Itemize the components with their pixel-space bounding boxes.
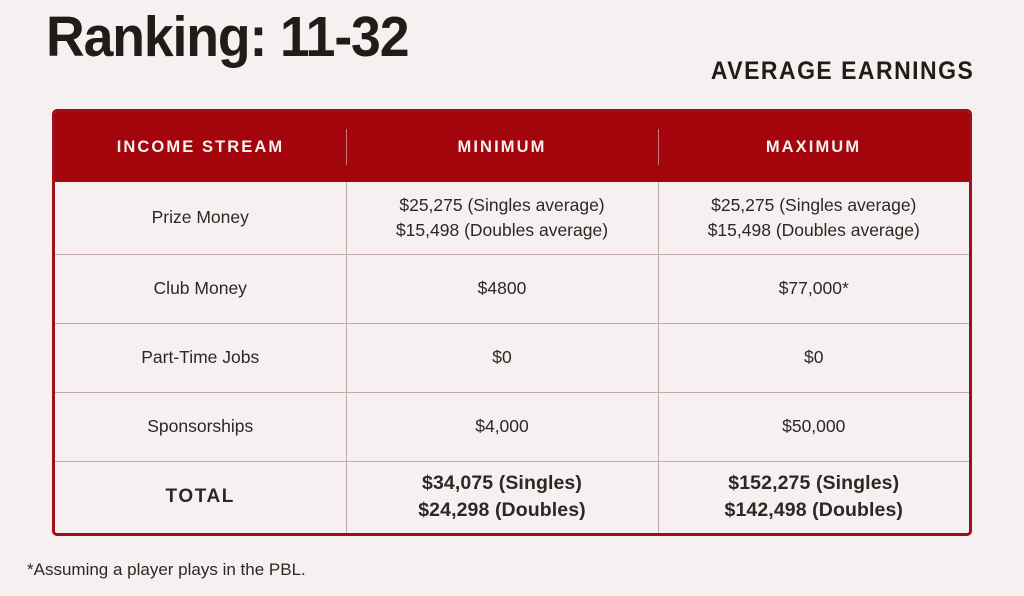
cell-line: $24,298 (Doubles): [357, 497, 648, 525]
cell-minimum: $4,000: [346, 392, 658, 461]
column-header-maximum: MAXIMUM: [658, 112, 969, 182]
table-row: Prize Money $25,275 (Singles average) $1…: [55, 182, 969, 254]
cell-minimum: $4800: [346, 254, 658, 323]
cell-income-stream: Part-Time Jobs: [55, 323, 346, 392]
cell-line: $77,000*: [669, 276, 960, 301]
cell-minimum: $34,075 (Singles) $24,298 (Doubles): [346, 461, 658, 533]
cell-line: $15,498 (Doubles average): [669, 218, 960, 243]
earnings-infographic: Ranking: 11-32 AVERAGE EARNINGS INCOME S…: [0, 0, 1024, 596]
cell-maximum: $77,000*: [658, 254, 969, 323]
cell-line: $25,275 (Singles average): [669, 193, 960, 218]
cell-minimum: $25,275 (Singles average) $15,498 (Doubl…: [346, 182, 658, 254]
table-row: Sponsorships $4,000 $50,000: [55, 392, 969, 461]
cell-line: $0: [669, 345, 960, 370]
column-header-income-stream: INCOME STREAM: [55, 112, 346, 182]
cell-maximum: $0: [658, 323, 969, 392]
cell-line: $142,498 (Doubles): [669, 497, 960, 525]
table-header-row: INCOME STREAM MINIMUM MAXIMUM: [55, 112, 969, 182]
cell-line: $34,075 (Singles): [357, 470, 648, 498]
table-row: Part-Time Jobs $0 $0: [55, 323, 969, 392]
cell-maximum: $152,275 (Singles) $142,498 (Doubles): [658, 461, 969, 533]
cell-line: $15,498 (Doubles average): [357, 218, 648, 243]
footnote: *Assuming a player plays in the PBL.: [27, 560, 306, 580]
average-earnings-table: INCOME STREAM MINIMUM MAXIMUM Prize Mone…: [52, 109, 972, 536]
cell-line: $4800: [357, 276, 648, 301]
cell-maximum: $25,275 (Singles average) $15,498 (Doubl…: [658, 182, 969, 254]
cell-line: $25,275 (Singles average): [357, 193, 648, 218]
cell-maximum: $50,000: [658, 392, 969, 461]
cell-income-stream: Club Money: [55, 254, 346, 323]
table-row: Club Money $4800 $77,000*: [55, 254, 969, 323]
cell-line: $50,000: [669, 414, 960, 439]
column-header-minimum: MINIMUM: [346, 112, 658, 182]
cell-line: $4,000: [357, 414, 648, 439]
table-row-total: TOTAL $34,075 (Singles) $24,298 (Doubles…: [55, 461, 969, 533]
cell-minimum: $0: [346, 323, 658, 392]
cell-income-stream: TOTAL: [55, 461, 346, 533]
cell-line: $0: [357, 345, 648, 370]
section-kicker: AVERAGE EARNINGS: [711, 57, 974, 86]
cell-line: $152,275 (Singles): [669, 470, 960, 498]
page-title: Ranking: 11-32: [46, 8, 408, 68]
cell-income-stream: Prize Money: [55, 182, 346, 254]
cell-income-stream: Sponsorships: [55, 392, 346, 461]
